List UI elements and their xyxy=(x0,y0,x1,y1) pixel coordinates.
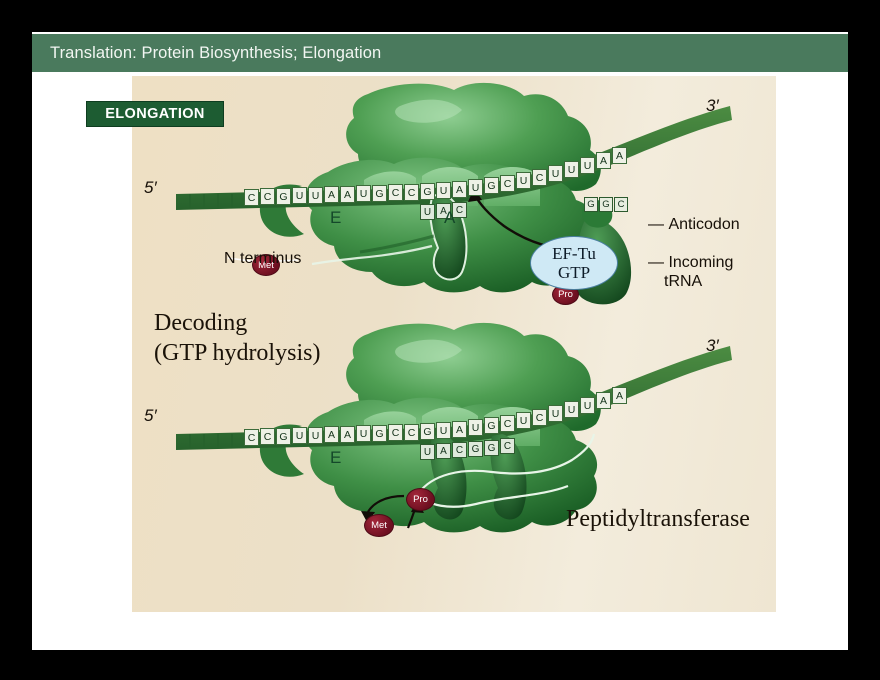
decoding-line-2: (GTP hydrolysis) xyxy=(154,338,320,368)
mrna-base: G xyxy=(276,188,291,205)
mrna-base: A xyxy=(324,426,339,443)
mrna-base: G xyxy=(372,425,387,442)
mrna-base: A xyxy=(596,392,611,409)
mrna-base: U xyxy=(516,412,531,429)
mrna-base: A xyxy=(612,147,627,164)
three-prime-label-bottom: 3′ xyxy=(706,336,719,356)
e-site-label-bottom: E xyxy=(330,448,341,468)
mrna-base: U xyxy=(564,161,579,178)
ef-tu-label: EF-Tu xyxy=(552,244,596,263)
five-prime-label-top: 5′ xyxy=(144,178,157,198)
mrna-base: U xyxy=(548,165,563,182)
mrna-base: C xyxy=(260,428,275,445)
figure-panel: C C G U U A A U G C C G U A U G C U C U … xyxy=(132,76,776,612)
mrna-base: A xyxy=(324,186,339,203)
anticodon-base: G xyxy=(468,441,483,457)
elongation-badge: ELONGATION xyxy=(86,101,224,127)
mrna-base: A xyxy=(340,426,355,443)
gtp-label: GTP xyxy=(558,263,590,282)
anticodon-base: U xyxy=(420,444,435,460)
anticodon-base: U xyxy=(420,204,435,220)
mrna-base: A xyxy=(612,387,627,404)
anticodon-base: A xyxy=(436,443,451,459)
incoming-trna-label: — Incoming tRNA xyxy=(648,253,733,291)
mrna-base: U xyxy=(548,405,563,422)
pro-residue-bottom: Pro xyxy=(406,488,435,511)
mrna-base: U xyxy=(468,179,483,196)
anticodon-text: Anticodon xyxy=(668,216,739,233)
ef-tu-gtp-complex: EF-Tu GTP xyxy=(530,236,618,290)
met-label: Met xyxy=(371,520,387,531)
slide-title-bar: Translation: Protein Biosynthesis; Elong… xyxy=(32,34,848,72)
incoming-line-2: tRNA xyxy=(664,273,702,290)
mrna-base: U xyxy=(356,185,371,202)
decoding-caption: Decoding (GTP hydrolysis) xyxy=(154,308,320,368)
mrna-base: U xyxy=(292,427,307,444)
mrna-base: A xyxy=(452,181,467,198)
anticodon-label: — Anticodon xyxy=(648,216,740,234)
anticodon-base: C xyxy=(500,438,515,454)
mrna-base: C xyxy=(500,415,515,432)
mrna-base: U xyxy=(292,187,307,204)
mrna-base: U xyxy=(516,172,531,189)
mrna-base: C xyxy=(404,424,419,441)
pro-label: Pro xyxy=(558,289,573,300)
e-site-label-top: E xyxy=(330,208,341,228)
mrna-base: G xyxy=(484,417,499,434)
incoming-line-1: Incoming xyxy=(668,254,733,271)
page-title: Translation: Protein Biosynthesis; Elong… xyxy=(32,44,381,63)
n-terminus-label: N terminus xyxy=(224,250,301,268)
mrna-base: C xyxy=(388,184,403,201)
mrna-base: G xyxy=(276,428,291,445)
anticodon-base: G xyxy=(584,197,598,212)
mrna-base: U xyxy=(468,419,483,436)
screen-background: Translation: Protein Biosynthesis; Elong… xyxy=(0,0,880,680)
mrna-base: C xyxy=(404,184,419,201)
mrna-base: A xyxy=(596,152,611,169)
mrna-base: U xyxy=(564,401,579,418)
mrna-base: C xyxy=(532,169,547,186)
decoding-line-1: Decoding xyxy=(154,308,320,338)
peptidyltransferase-caption: Peptidyltransferase xyxy=(566,506,750,533)
mrna-base: U xyxy=(308,427,323,444)
three-prime-label-top: 3′ xyxy=(706,96,719,116)
mrna-base: C xyxy=(532,409,547,426)
elongation-badge-label: ELONGATION xyxy=(105,106,205,122)
mrna-base: U xyxy=(356,425,371,442)
mrna-base: G xyxy=(372,185,387,202)
anticodon-base: G xyxy=(599,197,613,212)
five-prime-label-bottom: 5′ xyxy=(144,406,157,426)
a-site-label-top: A xyxy=(444,208,455,228)
mrna-base: A xyxy=(340,186,355,203)
mrna-base: A xyxy=(452,421,467,438)
mrna-base: U xyxy=(436,422,451,439)
mrna-base: U xyxy=(580,397,595,414)
mrna-base: G xyxy=(484,177,499,194)
mrna-base: C xyxy=(388,424,403,441)
mrna-base: C xyxy=(244,429,259,446)
mrna-base: G xyxy=(420,423,435,440)
anticodon-base: G xyxy=(484,440,499,456)
pro-label: Pro xyxy=(413,494,428,505)
mrna-base: C xyxy=(244,189,259,206)
mrna-base: U xyxy=(580,157,595,174)
mrna-base: C xyxy=(500,175,515,192)
anticodon-base: C xyxy=(452,442,467,458)
mrna-base: U xyxy=(436,182,451,199)
mrna-base: G xyxy=(420,183,435,200)
mrna-base: C xyxy=(260,188,275,205)
met-residue-bottom: Met xyxy=(364,514,394,537)
mrna-base: U xyxy=(308,187,323,204)
anticodon-base: C xyxy=(614,197,628,212)
